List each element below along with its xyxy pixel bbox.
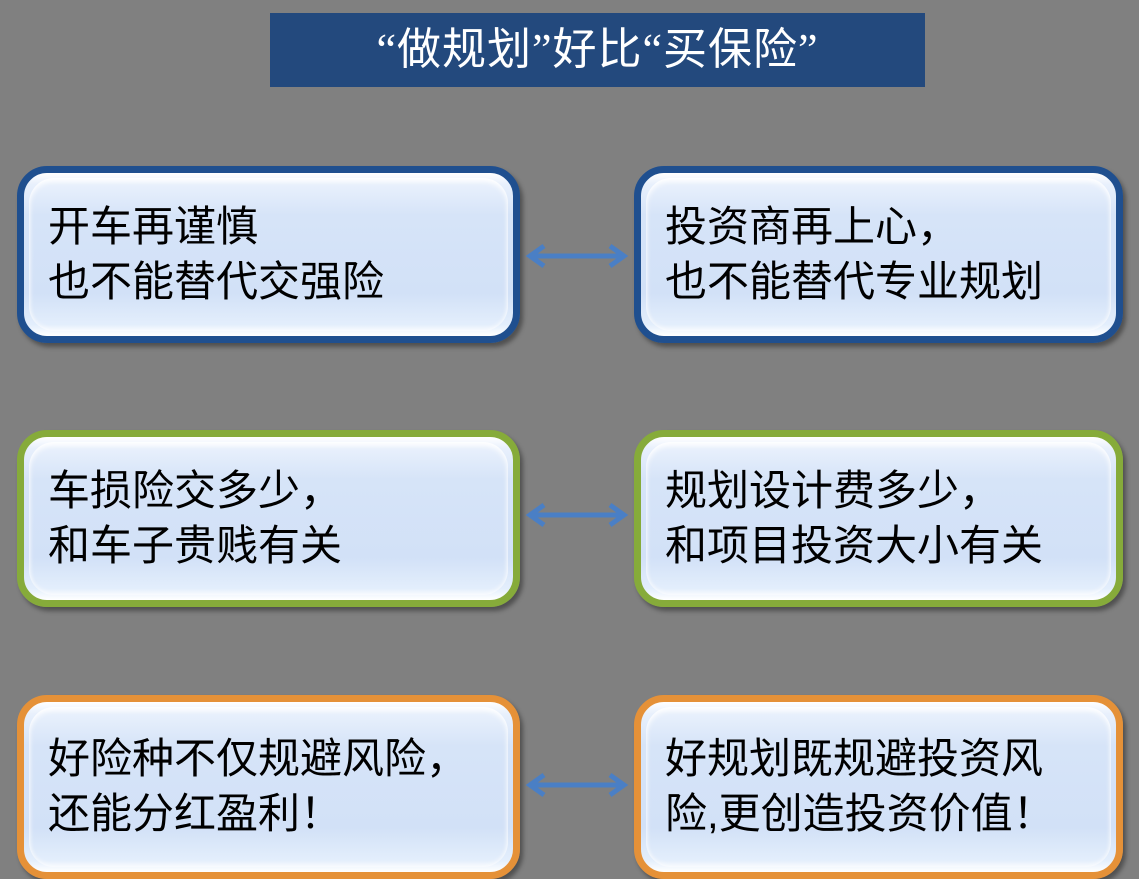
comparison-box-insurance-3: 好险种不仅规避风险， 还能分红盈利！ [17,695,520,879]
slide-title-banner: “做规划”好比“买保险” [270,13,925,87]
double-arrow-row-1 [518,243,636,269]
double-arrow-row-2 [518,502,636,528]
comparison-box-planning-3: 好规划既规避投资风 险,更创造投资价值！ [634,695,1123,879]
comparison-box-text: 好规划既规避投资风 险,更创造投资价值！ [665,732,1055,841]
comparison-box-planning-2: 规划设计费多少， 和项目投资大小有关 [634,430,1123,607]
comparison-box-text: 车损险交多少， 和车子贵贱有关 [48,464,342,573]
comparison-box-text: 好险种不仅规避风险， 还能分红盈利！ [48,732,468,841]
double-arrow-row-3 [518,772,636,798]
comparison-box-insurance-1: 开车再谨慎 也不能替代交强险 [17,166,520,343]
comparison-box-text: 开车再谨慎 也不能替代交强险 [48,200,384,309]
comparison-box-text: 投资商再上心， 也不能替代专业规划 [665,200,1043,309]
comparison-box-text: 规划设计费多少， 和项目投资大小有关 [665,464,1043,573]
comparison-box-planning-1: 投资商再上心， 也不能替代专业规划 [634,166,1123,343]
comparison-box-insurance-2: 车损险交多少， 和车子贵贱有关 [17,430,520,607]
page-title: “做规划”好比“买保险” [376,28,818,72]
